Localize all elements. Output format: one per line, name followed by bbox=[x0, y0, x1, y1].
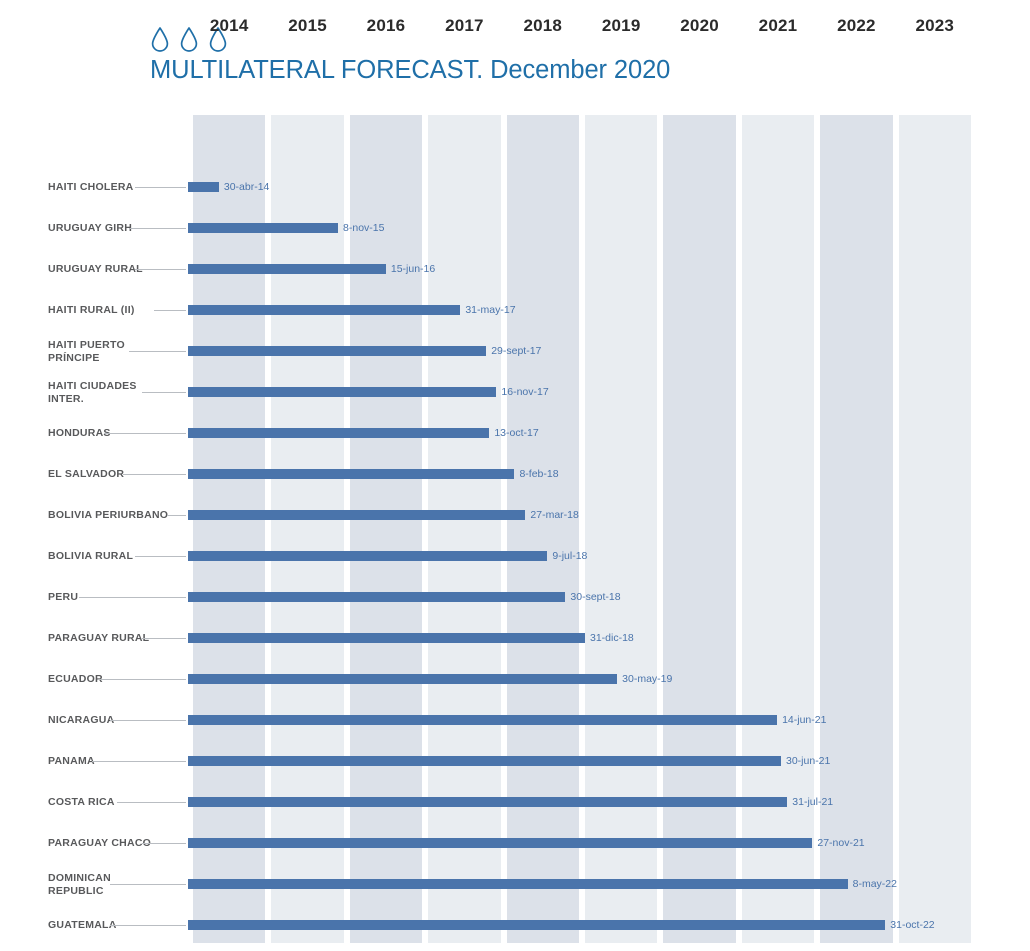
gantt-row[interactable]: EL SALVADOR8-feb-18 bbox=[0, 454, 1030, 495]
bar-date-label: 27-mar-18 bbox=[530, 507, 578, 523]
leader-line bbox=[129, 228, 186, 229]
gantt-row[interactable]: DOMINICAN REPUBLIC8-may-22 bbox=[0, 864, 1030, 905]
leader-line bbox=[135, 187, 186, 188]
gantt-row[interactable]: BOLIVIA PERIURBANO27-mar-18 bbox=[0, 495, 1030, 536]
year-axis-label-2020: 2020 bbox=[663, 0, 735, 52]
year-axis-label-2019: 2019 bbox=[585, 0, 657, 52]
bar-date-label: 31-jul-21 bbox=[792, 794, 833, 810]
leader-line bbox=[123, 474, 186, 475]
gantt-bar[interactable] bbox=[188, 510, 525, 520]
gantt-row[interactable]: HAITI CHOLERA30-abr-14 bbox=[0, 167, 1030, 208]
gantt-chart: 2014201520162017201820192020202120222023… bbox=[0, 0, 1030, 951]
gantt-bar[interactable] bbox=[188, 346, 486, 356]
bar-date-label: 9-jul-18 bbox=[552, 548, 587, 564]
gantt-row[interactable]: HAITI RURAL (II)31-may-17 bbox=[0, 290, 1030, 331]
year-axis-label-2017: 2017 bbox=[428, 0, 500, 52]
gantt-bar[interactable] bbox=[188, 305, 460, 315]
leader-line bbox=[167, 515, 187, 516]
leader-line bbox=[110, 720, 186, 721]
year-axis-label-2016: 2016 bbox=[350, 0, 422, 52]
gantt-row[interactable]: PARAGUAY CHACO27-nov-21 bbox=[0, 823, 1030, 864]
leader-line bbox=[142, 843, 187, 844]
gantt-row[interactable]: HAITI PUERTO PRÍNCIPE29-sept-17 bbox=[0, 331, 1030, 372]
leader-line bbox=[104, 433, 186, 434]
bar-date-label: 8-feb-18 bbox=[519, 466, 558, 482]
gantt-row[interactable]: URUGUAY GIRH8-nov-15 bbox=[0, 208, 1030, 249]
year-axis-label-2023: 2023 bbox=[899, 0, 971, 52]
bar-date-label: 14-jun-21 bbox=[782, 712, 826, 728]
gantt-bar[interactable] bbox=[188, 592, 565, 602]
leader-line bbox=[110, 925, 186, 926]
bar-date-label: 30-jun-21 bbox=[786, 753, 830, 769]
bar-date-label: 16-nov-17 bbox=[501, 384, 548, 400]
leader-line bbox=[79, 597, 186, 598]
gantt-row[interactable]: PANAMA30-jun-21 bbox=[0, 741, 1030, 782]
gantt-bar[interactable] bbox=[188, 920, 885, 930]
gantt-bar[interactable] bbox=[188, 838, 812, 848]
leader-line bbox=[154, 310, 186, 311]
gantt-row[interactable]: COSTA RICA31-jul-21 bbox=[0, 782, 1030, 823]
gantt-bar[interactable] bbox=[188, 756, 781, 766]
gantt-bar[interactable] bbox=[188, 428, 489, 438]
gantt-row[interactable]: HAITI CIUDADES INTER.16-nov-17 bbox=[0, 372, 1030, 413]
gantt-row[interactable]: NICARAGUA14-jun-21 bbox=[0, 700, 1030, 741]
gantt-row[interactable]: BOLIVIA RURAL9-jul-18 bbox=[0, 536, 1030, 577]
gantt-row[interactable]: ECUADOR30-may-19 bbox=[0, 659, 1030, 700]
leader-line bbox=[110, 884, 186, 885]
bar-date-label: 8-may-22 bbox=[853, 876, 897, 892]
gantt-bar[interactable] bbox=[188, 551, 547, 561]
gantt-row[interactable]: HONDURAS13-oct-17 bbox=[0, 413, 1030, 454]
leader-line bbox=[135, 556, 186, 557]
leader-line bbox=[117, 802, 187, 803]
bar-date-label: 29-sept-17 bbox=[491, 343, 541, 359]
year-axis-label-2014: 2014 bbox=[193, 0, 265, 52]
year-axis-label-2021: 2021 bbox=[742, 0, 814, 52]
gantt-bar[interactable] bbox=[188, 469, 514, 479]
bar-date-label: 30-sept-18 bbox=[570, 589, 620, 605]
leader-line bbox=[142, 392, 187, 393]
leader-line bbox=[98, 679, 186, 680]
bar-date-label: 27-nov-21 bbox=[817, 835, 864, 851]
gantt-bar[interactable] bbox=[188, 715, 777, 725]
year-axis-label-2015: 2015 bbox=[271, 0, 343, 52]
leader-line bbox=[142, 638, 187, 639]
bar-date-label: 31-oct-22 bbox=[890, 917, 934, 933]
gantt-bar[interactable] bbox=[188, 674, 617, 684]
leader-line bbox=[92, 761, 187, 762]
bar-date-label: 30-may-19 bbox=[622, 671, 672, 687]
bar-date-label: 30-abr-14 bbox=[224, 179, 270, 195]
year-axis-label-2018: 2018 bbox=[507, 0, 579, 52]
leader-line bbox=[135, 269, 186, 270]
gantt-bar[interactable] bbox=[188, 797, 787, 807]
bar-date-label: 13-oct-17 bbox=[494, 425, 538, 441]
gantt-bar[interactable] bbox=[188, 879, 848, 889]
gantt-bar[interactable] bbox=[188, 264, 386, 274]
gantt-bar[interactable] bbox=[188, 387, 496, 397]
gantt-row[interactable]: URUGUAY RURAL15-jun-16 bbox=[0, 249, 1030, 290]
bar-date-label: 15-jun-16 bbox=[391, 261, 435, 277]
gantt-bar[interactable] bbox=[188, 223, 338, 233]
year-axis-label-2022: 2022 bbox=[820, 0, 892, 52]
chart-page: MULTILATERAL FORECAST. December 2020 201… bbox=[0, 0, 1030, 951]
bar-date-label: 31-dic-18 bbox=[590, 630, 634, 646]
bar-date-label: 8-nov-15 bbox=[343, 220, 384, 236]
gantt-row[interactable]: PERU30-sept-18 bbox=[0, 577, 1030, 618]
leader-line bbox=[129, 351, 186, 352]
gantt-bar[interactable] bbox=[188, 633, 585, 643]
gantt-row[interactable]: GUATEMALA31-oct-22 bbox=[0, 905, 1030, 946]
gantt-row[interactable]: PARAGUAY RURAL31-dic-18 bbox=[0, 618, 1030, 659]
gantt-bar[interactable] bbox=[188, 182, 219, 192]
bar-date-label: 31-may-17 bbox=[465, 302, 515, 318]
